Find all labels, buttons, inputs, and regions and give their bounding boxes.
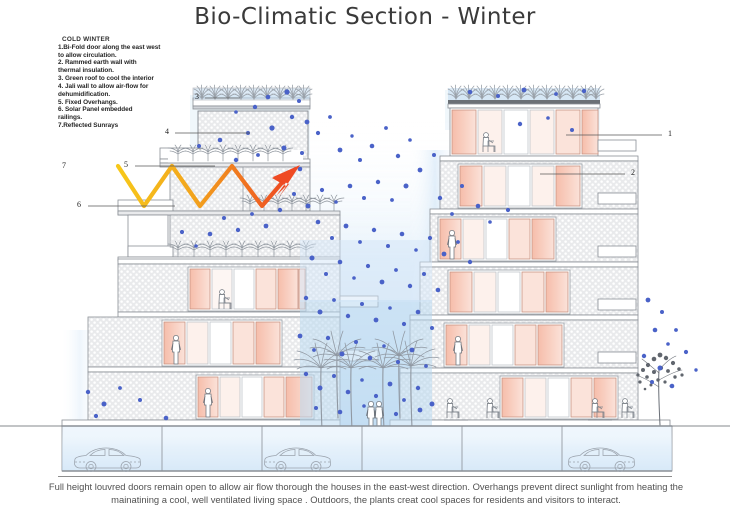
callout-number-7: 7 — [62, 161, 66, 170]
bi-fold-glass-doors-right-l2 — [458, 164, 582, 208]
bi-fold-glass-doors-right-l6 — [500, 376, 618, 419]
bi-fold-glass-doors-right-l1 — [450, 108, 598, 156]
bi-fold-glass-doors-right-l3 — [438, 217, 556, 261]
bi-fold-glass-doors-left-lower — [162, 320, 282, 366]
bio-climatic-section-page: Bio-Climatic Section - Winter — [0, 0, 730, 520]
bi-fold-glass-doors-right-l5 — [444, 323, 564, 367]
legend-heading: COLD WINTER — [62, 36, 183, 44]
callout-number-6: 6 — [77, 200, 81, 209]
caption-divider — [58, 476, 672, 477]
legend-item-2: to allow circulation. — [58, 52, 183, 60]
side-tree-right — [636, 353, 684, 425]
callout-number-2: 2 — [631, 168, 635, 177]
legend-item-5: 3. Green roof to cool the interior — [58, 75, 183, 83]
caption-text: Full height louvred doors remain open to… — [46, 480, 686, 507]
legend-item-8: 5. Fixed Overhangs. — [58, 99, 183, 107]
bi-fold-glass-doors-right-l4 — [448, 270, 570, 314]
legend-item-6: 4. Jali wall to allow air-flow for — [58, 83, 183, 91]
bi-fold-glass-doors-left-ground — [196, 375, 314, 419]
legend-item-9: 6. Solar Panel embedded — [58, 106, 183, 114]
callout-number-1: 1 — [668, 129, 672, 138]
legend-item-1: 1.Bi-Fold door along the east west — [58, 44, 183, 52]
legend-item-10: railings. — [58, 114, 183, 122]
callout-number-4: 4 — [165, 127, 169, 136]
legend-block: COLD WINTER 1.Bi-Fold door along the eas… — [58, 36, 183, 130]
bi-fold-glass-doors-left-upper — [188, 267, 306, 311]
legend-item-3: 2. Rammed earth wall with — [58, 59, 183, 67]
callout-number-3: 3 — [195, 92, 199, 101]
basement-parking-level — [0, 426, 730, 472]
callout-number-5: 5 — [124, 160, 128, 169]
legend-item-4: thermal insulation. — [58, 67, 183, 75]
legend-item-7: dehumidification. — [58, 91, 183, 99]
